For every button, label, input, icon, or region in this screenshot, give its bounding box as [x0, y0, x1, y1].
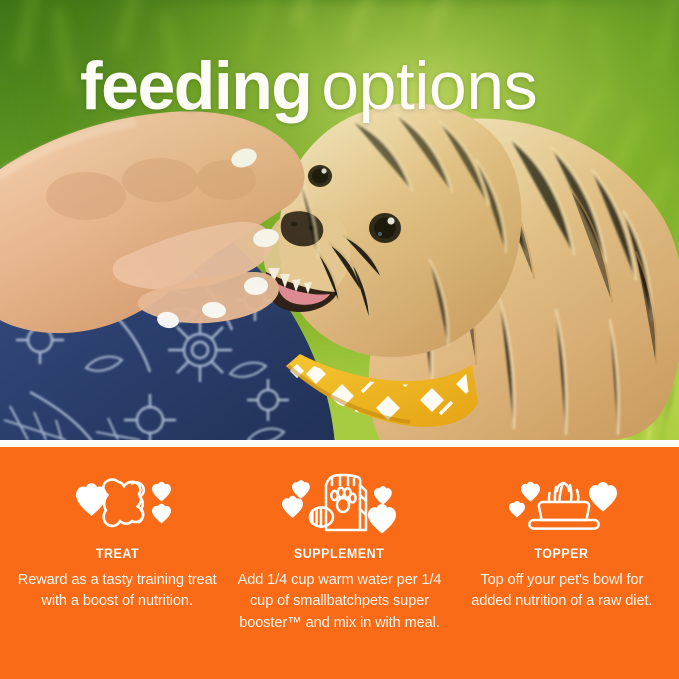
feeding-option-title: TREAT: [96, 546, 139, 561]
feeding-option-title: SUPPLEMENT: [294, 546, 384, 561]
feeding-option-title: TOPPER: [535, 546, 589, 561]
feeding-option-topper: TOPPER Top off your pet's bowl for added…: [451, 473, 673, 613]
hero-photo: feedingoptions: [0, 0, 679, 440]
food-bag-paw-scoop-hearts-icon: [276, 473, 402, 535]
dog-bone-treat-hearts-icon: [58, 473, 176, 535]
feeding-options-infographic: feedingoptions TREAT: [0, 0, 679, 679]
feeding-option-body: Reward as a tasty training treat with a …: [17, 570, 217, 613]
feeding-options-panel: TREAT Reward as a tasty training treat w…: [0, 447, 679, 679]
feeding-option-treat: TREAT Reward as a tasty training treat w…: [6, 473, 228, 613]
feeding-option-supplement: SUPPLEMENT Add 1/4 cup warm water per 1/…: [228, 473, 450, 634]
feeding-option-body: Top off your pet's bowl for added nutrit…: [462, 570, 662, 613]
section-divider: [0, 440, 679, 447]
feeding-option-body: Add 1/4 cup warm water per 1/4 cup of sm…: [234, 570, 444, 634]
food-bowl-topper-hearts-icon: [501, 473, 623, 535]
hero-photo-illustration: [0, 0, 679, 440]
